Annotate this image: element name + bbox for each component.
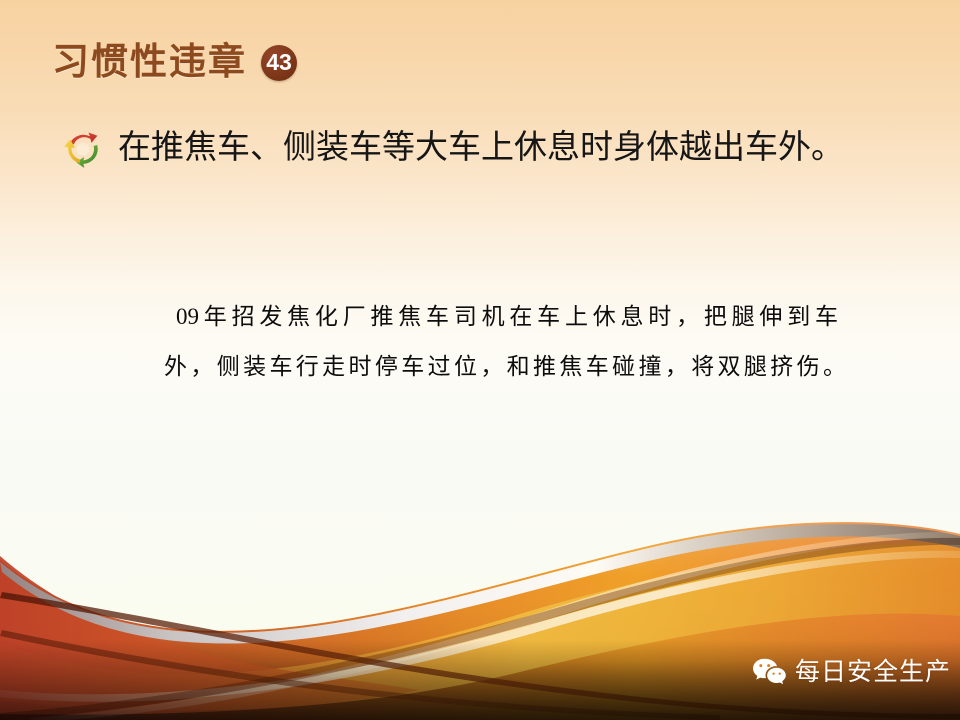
wechat-icon (752, 657, 786, 687)
status-badge: 43 (261, 45, 297, 81)
slide-subtitle-row: 在推焦车、侧装车等大车上休息时身体越出车外。 (62, 128, 932, 170)
presentation-slide: 习惯性违章 43 (0, 0, 960, 720)
slide-subtitle: 在推焦车、侧装车等大车上休息时身体越出车外。 (118, 130, 844, 168)
page-title: 习惯性违章 (52, 44, 247, 81)
body-line-1: 09年招发焦化厂推焦车司机在车上休息时，把腿伸到车 (150, 292, 850, 342)
slide-title-row: 习惯性违章 43 (52, 44, 297, 81)
cycle-arrows-icon (62, 128, 104, 170)
watermark: 每日安全生产 (752, 657, 951, 687)
slide-body: 09年招发焦化厂推焦车司机在车上休息时，把腿伸到车 外，侧装车行走时停车过位，和… (150, 292, 850, 392)
body-line-2: 外，侧装车行走时停车过位，和推焦车碰撞，将双腿挤伤。 (150, 342, 850, 392)
watermark-label: 每日安全生产 (795, 660, 951, 685)
